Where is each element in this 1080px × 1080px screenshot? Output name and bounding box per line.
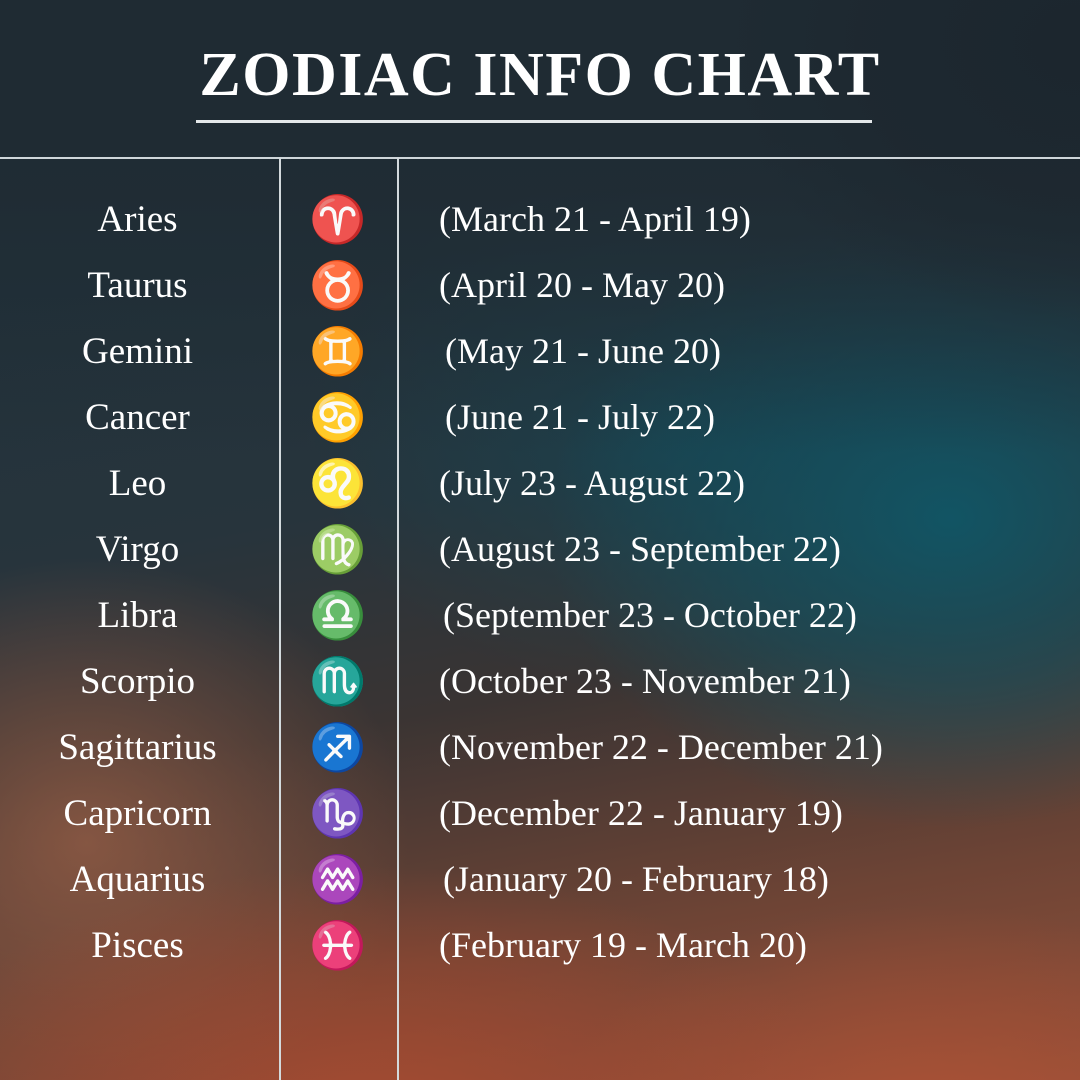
- capricorn-symbol-icon: ♑: [279, 790, 397, 836]
- aquarius-symbol-icon: ♒: [279, 856, 397, 902]
- scorpio-symbol-icon: ♏: [279, 658, 397, 704]
- table-row: Cancer♋(June 21 - July 22): [0, 384, 1080, 450]
- zodiac-sign-name: Cancer: [0, 399, 279, 436]
- zodiac-sign-name: Gemini: [0, 333, 279, 370]
- zodiac-date-range: (August 23 - September 22): [397, 531, 1080, 567]
- table-row: Leo♌(July 23 - August 22): [0, 450, 1080, 516]
- page-title: ZODIAC INFO CHART: [0, 44, 1080, 106]
- sagittarius-symbol-icon: ♐: [279, 724, 397, 770]
- zodiac-date-range: (January 20 - February 18): [397, 861, 1080, 897]
- table-row: Libra♎(September 23 - October 22): [0, 582, 1080, 648]
- zodiac-sign-name: Virgo: [0, 531, 279, 568]
- pisces-symbol-icon: ♓: [279, 922, 397, 968]
- table-row: Pisces♓(February 19 - March 20): [0, 912, 1080, 978]
- table-row: Scorpio♏(October 23 - November 21): [0, 648, 1080, 714]
- zodiac-date-range: (November 22 - December 21): [397, 729, 1080, 765]
- zodiac-sign-name: Leo: [0, 465, 279, 502]
- zodiac-date-range: (March 21 - April 19): [397, 201, 1080, 237]
- table-row: Virgo♍(August 23 - September 22): [0, 516, 1080, 582]
- libra-symbol-icon: ♎: [279, 592, 397, 638]
- zodiac-sign-name: Aries: [0, 201, 279, 238]
- zodiac-sign-name: Taurus: [0, 267, 279, 304]
- zodiac-date-range: (October 23 - November 21): [397, 663, 1080, 699]
- zodiac-date-range: (June 21 - July 22): [397, 399, 1080, 435]
- zodiac-date-range: (February 19 - March 20): [397, 927, 1080, 963]
- table-row: Gemini♊(May 21 - June 20): [0, 318, 1080, 384]
- table-row: Sagittarius♐(November 22 - December 21): [0, 714, 1080, 780]
- zodiac-sign-name: Sagittarius: [0, 729, 279, 766]
- zodiac-date-range: (December 22 - January 19): [397, 795, 1080, 831]
- zodiac-sign-name: Capricorn: [0, 795, 279, 832]
- table-row: Taurus♉(April 20 - May 20): [0, 252, 1080, 318]
- zodiac-table: Aries♈(March 21 - April 19)Taurus♉(April…: [0, 158, 1080, 1080]
- header: ZODIAC INFO CHART: [0, 0, 1080, 158]
- zodiac-sign-name: Pisces: [0, 927, 279, 964]
- table-row: Aries♈(March 21 - April 19): [0, 186, 1080, 252]
- leo-symbol-icon: ♌: [279, 460, 397, 506]
- zodiac-sign-name: Scorpio: [0, 663, 279, 700]
- zodiac-sign-name: Aquarius: [0, 861, 279, 898]
- cancer-symbol-icon: ♋: [279, 394, 397, 440]
- table-row: Aquarius♒(January 20 - February 18): [0, 846, 1080, 912]
- zodiac-date-range: (July 23 - August 22): [397, 465, 1080, 501]
- zodiac-date-range: (April 20 - May 20): [397, 267, 1080, 303]
- zodiac-date-range: (May 21 - June 20): [397, 333, 1080, 369]
- taurus-symbol-icon: ♉: [279, 262, 397, 308]
- zodiac-info-chart: ZODIAC INFO CHART Aries♈(March 21 - Apri…: [0, 0, 1080, 1080]
- aries-symbol-icon: ♈: [279, 196, 397, 242]
- gemini-symbol-icon: ♊: [279, 328, 397, 374]
- zodiac-date-range: (September 23 - October 22): [397, 597, 1080, 633]
- title-underline-rule: [196, 120, 872, 123]
- zodiac-sign-name: Libra: [0, 597, 279, 634]
- table-row: Capricorn♑(December 22 - January 19): [0, 780, 1080, 846]
- virgo-symbol-icon: ♍: [279, 526, 397, 572]
